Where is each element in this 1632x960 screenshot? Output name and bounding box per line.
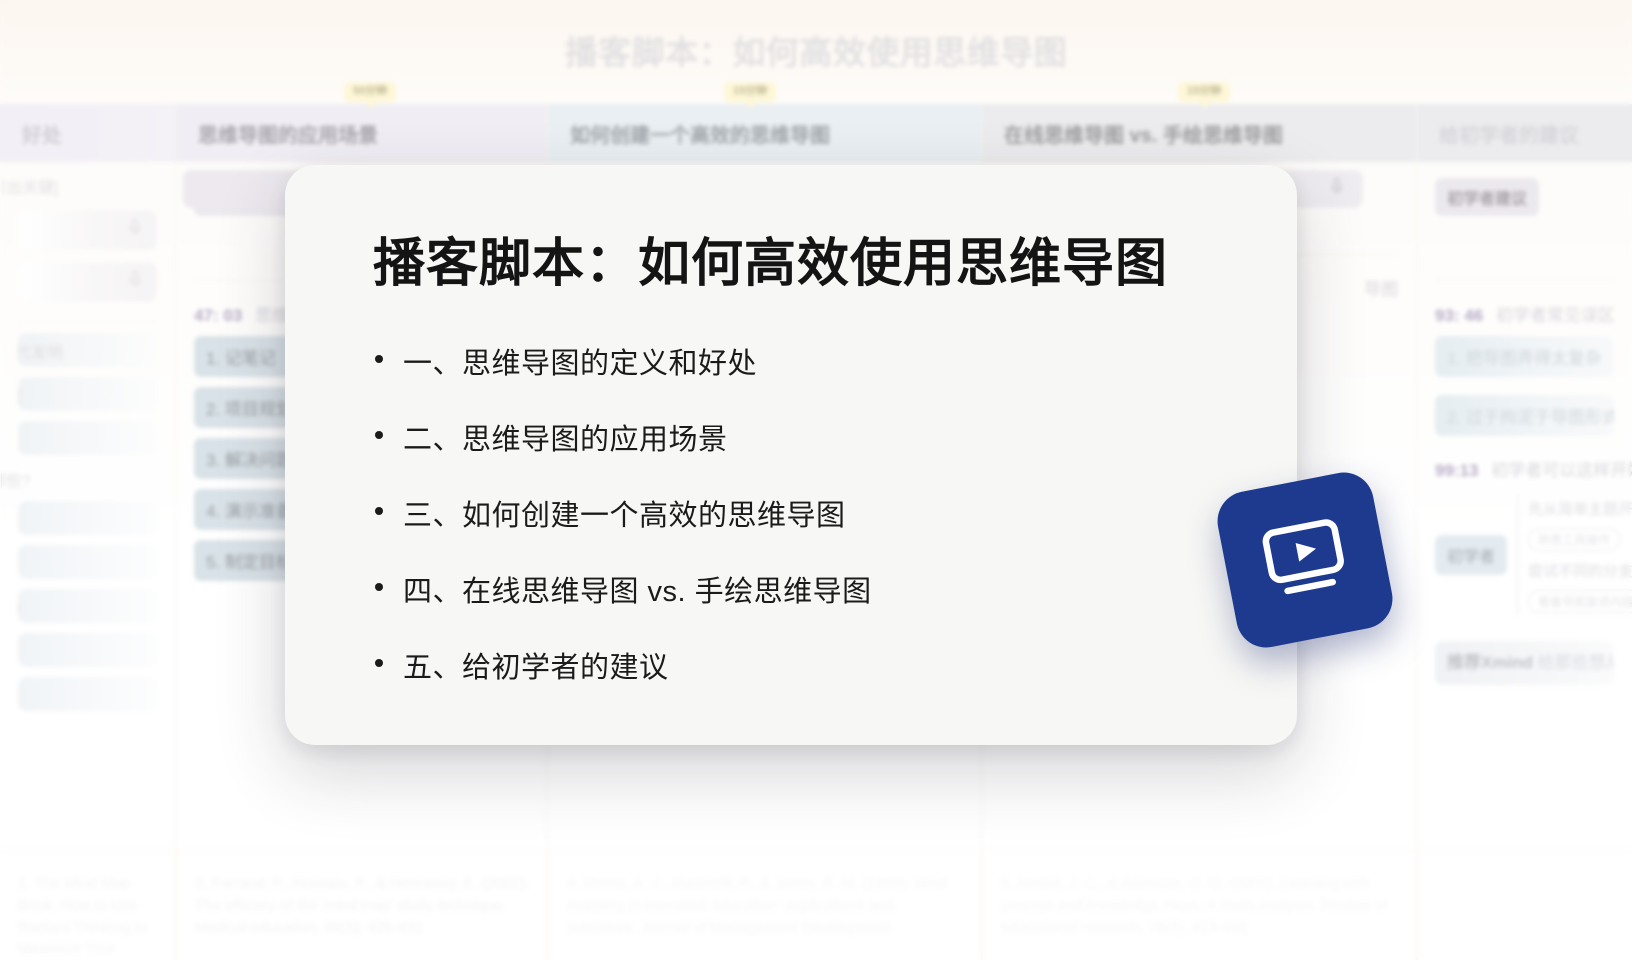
modal-outline-list: 一、思维导图的定义和好处 二、思维导图的应用场景 三、如何创建一个高效的思维导图… <box>373 340 1227 686</box>
presentation-play-glyph <box>1258 515 1353 605</box>
presentation-play-icon[interactable] <box>1212 467 1397 652</box>
outline-modal: 播客脚本：如何高效使用思维导图 一、思维导图的定义和好处 二、思维导图的应用场景… <box>285 165 1297 745</box>
modal-title: 播客脚本：如何高效使用思维导图 <box>373 221 1227 296</box>
outline-item[interactable]: 五、给初学者的建议 <box>373 644 1227 686</box>
outline-item[interactable]: 二、思维导图的应用场景 <box>373 416 1227 458</box>
outline-item[interactable]: 一、思维导图的定义和好处 <box>373 340 1227 382</box>
app-screen: 播客脚本：如何高效使用思维导图 好处 引出关键] <box>0 0 1632 960</box>
outline-item[interactable]: 三、如何创建一个高效的思维导图 <box>373 492 1227 534</box>
outline-item[interactable]: 四、在线思维导图 vs. 手绘思维导图 <box>373 568 1227 610</box>
